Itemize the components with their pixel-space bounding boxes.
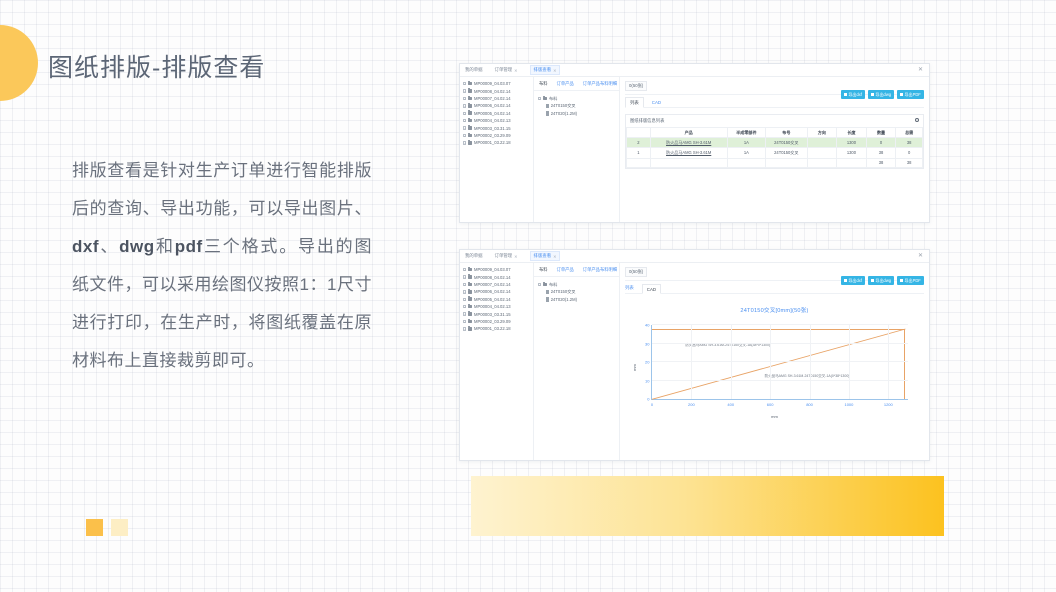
tree-item[interactable]: − MP00008_04.02.14 <box>463 87 531 94</box>
tab-label: 订单管理 <box>495 253 513 259</box>
tree-item-label: MP00001_03.22.18 <box>474 140 511 145</box>
body-keyword-dxf: dxf <box>72 237 99 256</box>
expander-icon[interactable]: − <box>463 268 466 271</box>
cell-blank <box>837 158 867 167</box>
cell-product[interactable]: 防火品马AMG SH-3.61M <box>650 138 727 148</box>
expander-icon[interactable]: − <box>463 298 466 301</box>
close-icon[interactable]: ✕ <box>553 254 556 259</box>
tree-item-label: 24T0150交叉 <box>551 289 576 295</box>
folder-icon <box>468 134 473 138</box>
layout-table: 产品 半成零部件 布号 方向 长度 数量 总需 2 防火品马AMG SH-3.6 <box>626 127 923 168</box>
body-sep-1: 、 <box>99 237 119 256</box>
y-axis-tick: 30 <box>645 341 649 346</box>
body-keyword-dwg: dwg <box>119 237 155 256</box>
expander-icon[interactable]: − <box>463 320 466 323</box>
folder-icon <box>468 305 473 309</box>
tree-item-label: 布料 <box>549 282 557 288</box>
tree-item-label: 布料 <box>549 96 557 102</box>
tree-item-label: MP00002_03.29.09 <box>474 319 511 324</box>
cell-fabric-no: 24T0150交叉 <box>766 138 807 148</box>
tree-item[interactable]: − MP00007_04.02.14 <box>463 95 531 102</box>
folder-icon <box>468 320 473 324</box>
close-icon[interactable]: ✕ <box>514 254 517 259</box>
view-tab-bar: 列表 CAD <box>625 285 924 294</box>
folder-icon <box>468 82 473 86</box>
download-icon <box>844 93 847 96</box>
cell-blank <box>766 158 807 167</box>
y-axis-tick: 10 <box>645 378 649 383</box>
decorative-gradient-bar <box>471 476 944 536</box>
expander-icon[interactable]: − <box>463 312 466 315</box>
cell-blank <box>627 158 651 167</box>
tab-order-product[interactable]: 订单产品 <box>557 267 574 273</box>
cell-total: 0 <box>896 148 923 158</box>
window-tab-layout-view[interactable]: 排版查看 ✕ <box>530 251 561 261</box>
folder-icon <box>468 275 473 279</box>
cell-product[interactable]: 防火品马AMG SH-3.61M <box>650 148 727 158</box>
col-length: 长度 <box>837 128 867 138</box>
window-tab-strip: 我的单据 订单管理 ✕ 排版查看 ✕ ✕ <box>460 64 929 77</box>
fabric-tree: − 布料 24T0150交叉 24T020(1.2M) <box>534 91 619 117</box>
cell-qty: 38 <box>866 148 896 158</box>
expander-icon[interactable]: − <box>463 112 466 115</box>
tab-list[interactable]: 列表 <box>625 285 634 293</box>
tab-cad[interactable]: CAD <box>652 100 661 107</box>
cell-qty: 0 <box>866 138 896 148</box>
tree-item-root[interactable]: − 布料 <box>538 281 619 288</box>
expander-icon[interactable]: − <box>463 104 466 107</box>
gridline-vertical <box>810 325 811 399</box>
tree-item-label: MP00005_04.02.14 <box>474 297 511 302</box>
expander-icon[interactable]: − <box>463 82 466 85</box>
gridline-vertical <box>770 325 771 399</box>
col-qty: 数量 <box>866 128 896 138</box>
tab-list[interactable]: 列表 <box>625 97 644 108</box>
folder-icon <box>543 283 548 287</box>
tab-fabric[interactable]: 布料 <box>539 81 548 87</box>
gridline-vertical <box>888 325 889 399</box>
cell-total-qty: 38 <box>866 158 896 167</box>
tree-item[interactable]: − MP00007_04.02.14 <box>463 281 531 288</box>
col-direction: 方向 <box>807 128 837 138</box>
x-axis-label: mm <box>625 414 924 419</box>
cell-total: 38 <box>896 138 923 148</box>
col-fabric-no: 布号 <box>766 128 807 138</box>
decorative-square-pale <box>111 519 128 536</box>
plot-canvas: 防火品马AMG SH-3.61M-24T0150交叉-1A(38*0*1300)… <box>651 325 908 400</box>
tree-item[interactable]: − MP00003_03.31.15 <box>463 124 531 131</box>
cell-blank <box>807 158 837 167</box>
tree-item-label: MP00002_03.29.09 <box>474 133 511 138</box>
col-part: 半成零部件 <box>727 128 765 138</box>
expander-icon[interactable]: − <box>463 119 466 122</box>
button-label: 导出dwg <box>875 278 891 284</box>
expander-icon[interactable]: − <box>463 97 466 100</box>
expander-icon[interactable]: − <box>463 327 466 330</box>
body-paragraph: 排版查看是针对生产订单进行智能排版后的查询、导出功能，可以导出图片、dxf、dw… <box>72 152 372 380</box>
tree-item[interactable]: − MP00006_04.02.14 <box>463 102 531 109</box>
y-axis-tick: 40 <box>645 323 649 328</box>
gridline-vertical <box>691 325 692 399</box>
x-axis-tick: 1000 <box>844 402 853 407</box>
cell-length: 1300 <box>837 148 867 158</box>
folder-icon <box>468 89 473 93</box>
export-button-group: 导出dxf 导出dwg 导出PDF <box>841 276 924 285</box>
panel-body: − MP00009_04.03.07 − MP00008_04.02.14 − … <box>460 77 929 222</box>
folder-icon <box>468 97 473 101</box>
cell-part: 1A <box>727 138 765 148</box>
folder-icon <box>468 111 473 115</box>
expander-icon[interactable]: − <box>463 275 466 278</box>
gear-icon[interactable] <box>915 118 920 123</box>
inner-tab-bar: 布料 订单产品 订单产品布料明细 <box>534 77 619 91</box>
export-dwg-button[interactable]: 导出dwg <box>868 276 895 285</box>
window-tab-layout-view[interactable]: 排版查看 ✕ <box>530 65 561 75</box>
download-icon <box>871 93 874 96</box>
panel-body: − MP00009_04.03.07 − MP00008_04.02.14 − … <box>460 263 929 460</box>
view-tab-bar: 列表 CAD <box>625 99 924 108</box>
tab-label: 排版查看 <box>534 253 552 259</box>
tree-item-label: MP00006_04.02.14 <box>474 289 511 294</box>
file-icon <box>546 290 549 294</box>
file-icon <box>546 297 549 301</box>
table-row[interactable]: 2 防火品马AMG SH-3.61M 1A 24T0150交叉 1300 0 3… <box>627 138 923 148</box>
tree-item[interactable]: − MP00001_03.22.18 <box>463 325 531 332</box>
expander-icon[interactable]: − <box>463 89 466 92</box>
inner-tab-bar: 布料 订单产品 订单产品布料明细 <box>534 263 619 277</box>
tree-item-child[interactable]: 24T0150交叉 <box>538 102 619 109</box>
expander-icon[interactable]: − <box>463 283 466 286</box>
y-axis-tick: 20 <box>645 360 649 365</box>
tree-item[interactable]: − MP00001_03.22.18 <box>463 139 531 146</box>
window-tab-order-management[interactable]: 订单管理 ✕ <box>495 67 518 73</box>
tree-item-label: MP00007_04.02.14 <box>474 96 511 101</box>
cell-length: 1300 <box>837 138 867 148</box>
tree-item-label: MP00007_04.02.14 <box>474 282 511 287</box>
export-button-group: 导出dxf 导出dwg 导出PDF <box>841 90 924 99</box>
col-product: 产品 <box>650 128 727 138</box>
export-pdf-button[interactable]: 导出PDF <box>897 90 924 99</box>
folder-icon <box>468 141 473 145</box>
table-row[interactable]: 1 防火品马AMG SH-3.61M 1A 24T0150交叉 1300 38 … <box>627 148 923 158</box>
folder-icon <box>468 290 473 294</box>
folder-icon <box>468 312 473 316</box>
tree-item[interactable]: − MP00006_04.02.14 <box>463 288 531 295</box>
cell-part: 1A <box>727 148 765 158</box>
button-label: 导出PDF <box>904 278 920 284</box>
folder-icon <box>468 104 473 108</box>
body-tail: 三个格式。导出的图纸文件，可以采用绘图仪按照1：1尺寸进行打印，在生产时，将图纸… <box>72 237 372 370</box>
cell-blank <box>650 158 727 167</box>
tree-item-label: MP00008_04.02.14 <box>474 89 511 94</box>
tree-item[interactable]: − MP00009_04.03.07 <box>463 80 531 87</box>
tree-item-label: MP00006_04.02.14 <box>474 103 511 108</box>
col-index <box>627 128 651 138</box>
window-tab-my-documents[interactable]: 我的单据 <box>465 67 483 73</box>
download-icon <box>844 279 847 282</box>
cell-direction <box>807 138 837 148</box>
tree-item[interactable]: − MP00004_04.02.13 <box>463 303 531 310</box>
cell-index: 1 <box>627 148 651 158</box>
button-label: 导出dxf <box>848 92 862 98</box>
tree-item-label: MP00009_04.03.07 <box>474 267 511 272</box>
cell-blank <box>727 158 765 167</box>
tab-order-product-fabric-detail[interactable]: 订单产品布料明细 <box>583 81 617 87</box>
table-title: 图纸排版信息列表 <box>630 118 664 123</box>
layout-table-card: 图纸排版信息列表 产品 半成零部件 布号 方向 长度 数量 总需 <box>625 114 924 169</box>
x-axis-tick: 0 <box>651 402 653 407</box>
expander-icon[interactable]: − <box>463 126 466 129</box>
tree-item[interactable]: − MP00002_03.29.09 <box>463 132 531 139</box>
file-icon <box>546 111 549 115</box>
tree-item[interactable]: − MP00009_04.03.07 <box>463 266 531 273</box>
order-tree: − MP00009_04.03.07 − MP00008_04.02.14 − … <box>460 77 534 222</box>
expander-icon[interactable]: − <box>463 134 466 137</box>
folder-icon <box>468 283 473 287</box>
folder-icon <box>468 268 473 272</box>
folder-icon <box>468 297 473 301</box>
close-icon[interactable]: ✕ <box>553 68 556 73</box>
export-pdf-button[interactable]: 导出PDF <box>897 276 924 285</box>
tab-order-product-fabric-detail[interactable]: 订单产品布料明细 <box>583 267 617 273</box>
x-axis-tick: 800 <box>806 402 813 407</box>
order-tree: − MP00009_04.03.07 − MP00008_04.02.14 − … <box>460 263 534 460</box>
cell-total-sum: 38 <box>896 158 923 167</box>
folder-icon <box>468 126 473 130</box>
tree-item-label: MP00009_04.03.07 <box>474 81 511 86</box>
x-axis-tick: 200 <box>688 402 695 407</box>
tab-label: 我的单据 <box>465 67 483 73</box>
x-axis-tick: 600 <box>767 402 774 407</box>
tree-item-label: MP00005_04.02.14 <box>474 111 511 116</box>
cell-index: 2 <box>627 138 651 148</box>
screenshot-cad-view: 我的单据 订单管理 ✕ 排版查看 ✕ ✕ − MP00009_04.03.07 … <box>459 249 930 461</box>
decorative-square-solid <box>86 519 103 536</box>
export-dxf-button[interactable]: 导出dxf <box>841 90 866 99</box>
tree-item-label: MP00003_03.31.15 <box>474 312 511 317</box>
tab-label: 排版查看 <box>534 67 552 73</box>
tab-order-product[interactable]: 订单产品 <box>557 81 574 87</box>
window-tab-strip: 我的单据 订单管理 ✕ 排版查看 ✕ ✕ <box>460 250 929 263</box>
body-lead: 排版查看是针对生产订单进行智能排版后的查询、导出功能，可以导出图片、 <box>72 161 372 218</box>
decorative-squares <box>86 519 128 536</box>
tree-item[interactable]: − MP00005_04.02.14 <box>463 110 531 117</box>
expander-icon[interactable]: − <box>538 97 541 100</box>
page-title: 图纸排版-排版查看 <box>48 48 265 84</box>
tree-item-child[interactable]: 24T0150交叉 <box>538 288 619 295</box>
tab-label: 我的单据 <box>465 253 483 259</box>
fabric-tree: − 布料 24T0150交叉 24T020(1.2M) <box>534 277 619 303</box>
tree-item[interactable]: − MP00004_04.02.13 <box>463 117 531 124</box>
tree-item-label: MP00001_03.22.18 <box>474 326 511 331</box>
tree-item-label: MP00003_03.31.15 <box>474 126 511 131</box>
button-label: 导出PDF <box>904 92 920 98</box>
tree-item-label: 24T0150交叉 <box>551 103 576 109</box>
body-keyword-pdf: pdf <box>175 237 203 256</box>
button-label: 导出dwg <box>875 92 891 98</box>
folder-icon <box>543 97 548 101</box>
tree-item[interactable]: − MP00003_03.31.15 <box>463 310 531 317</box>
button-label: 导出dxf <box>848 278 862 284</box>
y-axis-label: mm <box>632 364 637 371</box>
tab-cad[interactable]: CAD <box>642 284 661 294</box>
expander-icon[interactable]: − <box>463 290 466 293</box>
sheet-count-chip[interactable]: 0(50张) <box>625 267 647 277</box>
x-axis-tick: 400 <box>727 402 734 407</box>
table-header-row: 产品 半成零部件 布号 方向 长度 数量 总需 <box>627 128 923 138</box>
tree-item-label: MP00008_04.02.14 <box>474 275 511 280</box>
tab-label: 订单管理 <box>495 67 513 73</box>
gridline-vertical <box>849 325 850 399</box>
tree-item-root[interactable]: − 布料 <box>538 95 619 102</box>
fabric-pane: 布料 订单产品 订单产品布料明细 − 布料 24T0150交叉 24T020(1… <box>534 77 620 222</box>
tree-item-label: MP00004_04.02.13 <box>474 118 511 123</box>
window-tab-my-documents[interactable]: 我的单据 <box>465 253 483 259</box>
window-tab-order-management[interactable]: 订单管理 ✕ <box>495 253 518 259</box>
tree-item-child[interactable]: 24T020(1.2M) <box>538 296 619 303</box>
close-icon[interactable]: ✕ <box>514 68 517 73</box>
cad-pane: 0(50张) 导出dxf 导出dwg 导出PDF 列表 CAD <box>620 263 929 460</box>
tree-item-label: 24T020(1.2M) <box>551 111 577 116</box>
tree-item-label: MP00004_04.02.13 <box>474 304 511 309</box>
chart-annotation-top: 防火品马AMG SH-3.61M-24T0150交叉-1A(38*0*1300) <box>685 343 770 348</box>
diagonal-cut-line <box>652 329 905 399</box>
table-card-header: 图纸排版信息列表 <box>626 115 923 127</box>
file-icon <box>546 104 549 108</box>
y-axis-tick: 0 <box>647 397 649 402</box>
body-sep-2: 和 <box>155 237 175 256</box>
download-icon <box>871 279 874 282</box>
folder-icon <box>468 119 473 123</box>
download-icon <box>900 279 903 282</box>
screenshot-list-view: 我的单据 订单管理 ✕ 排版查看 ✕ ✕ − MP00009_04.03.07 … <box>459 63 930 223</box>
window-close-icon[interactable]: ✕ <box>918 67 923 73</box>
chart-annotation-bottom: 防火品马AMG SH-3.61M-24T0150交叉-1A(0*38*1300) <box>765 374 850 379</box>
cell-fabric-no: 24T0150交叉 <box>766 148 807 158</box>
fabric-pane: 布料 订单产品 订单产品布料明细 − 布料 24T0150交叉 24T020(1… <box>534 263 620 460</box>
chart-title: 24T0150交叉[0mm](50张) <box>625 306 924 314</box>
cell-direction <box>807 148 837 158</box>
tree-item[interactable]: − MP00005_04.02.14 <box>463 296 531 303</box>
col-total: 总需 <box>896 128 923 138</box>
tab-fabric[interactable]: 布料 <box>539 267 548 273</box>
download-icon <box>900 93 903 96</box>
sheet-count-chip[interactable]: 0(50张) <box>625 81 647 91</box>
export-dxf-button[interactable]: 导出dxf <box>841 276 866 285</box>
tree-item-label: 24T020(1.2M) <box>551 297 577 302</box>
folder-icon <box>468 327 473 331</box>
expander-icon[interactable]: − <box>463 305 466 308</box>
tree-item-child[interactable]: 24T020(1.2M) <box>538 110 619 117</box>
gridline-vertical <box>731 325 732 399</box>
table-totals-row: 38 38 <box>627 158 923 167</box>
tree-item[interactable]: − MP00008_04.02.14 <box>463 273 531 280</box>
tree-item[interactable]: − MP00002_03.29.09 <box>463 318 531 325</box>
x-axis-tick: 1200 <box>884 402 893 407</box>
window-close-icon[interactable]: ✕ <box>918 253 923 259</box>
expander-icon[interactable]: − <box>463 141 466 144</box>
chart-area: mm mm 防火品马AMG SH-3.61M-24T0150交叉-1A(38*0… <box>625 321 924 416</box>
expander-icon[interactable]: − <box>538 283 541 286</box>
content-pane: 0(50张) 导出dxf 导出dwg 导出PDF 列表 CAD <box>620 77 929 222</box>
export-dwg-button[interactable]: 导出dwg <box>868 90 895 99</box>
